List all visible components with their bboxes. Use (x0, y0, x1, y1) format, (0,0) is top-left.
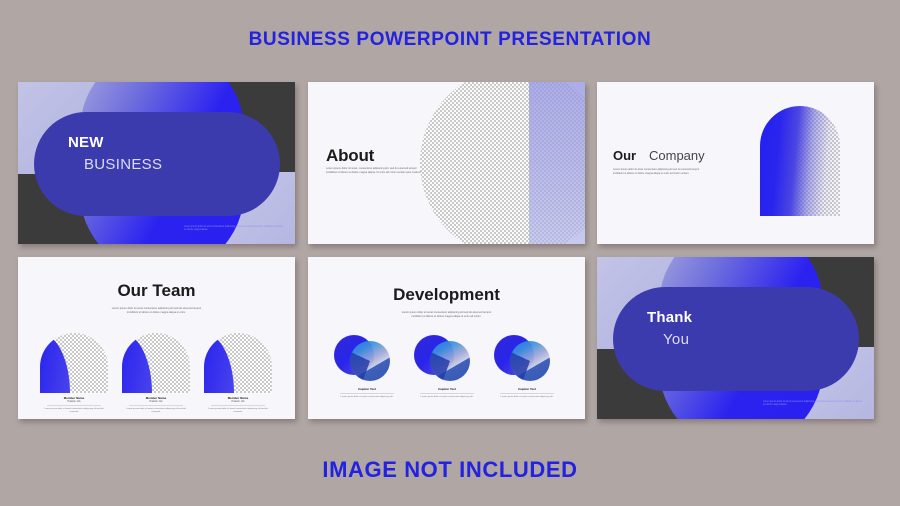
development-item[interactable]: Caption Text Lorem ipsum dolor sit amet … (332, 335, 402, 399)
team-divider (47, 405, 101, 406)
thankyou-microcopy: Lorem ipsum dolor sit amet consectetur a… (763, 401, 863, 407)
slide-thumbnail-cover[interactable]: NEW BUSINESS Lorem ipsum dolor sit amet … (18, 82, 295, 244)
team-member-card[interactable]: Member Name Position Job Lorem ipsum dol… (40, 333, 108, 414)
team-member-body: Lorem ipsum dolor sit amet consectetur a… (204, 408, 272, 414)
company-heading-light: Company (649, 148, 705, 163)
development-title: Development (308, 285, 585, 305)
team-arch-blue-crescent (40, 333, 70, 393)
about-heading: About (326, 146, 374, 166)
cover-title-bold: NEW (68, 134, 104, 151)
slide-thumbnail-development[interactable]: Development Lorem ipsum dolor sit amet c… (308, 257, 585, 419)
circle-wedge-icon (350, 341, 390, 381)
cover-title-light: BUSINESS (84, 156, 162, 173)
team-title: Our Team (18, 281, 295, 301)
team-divider (129, 405, 183, 406)
development-subtitle: Lorem ipsum dolor sit amet consectetur a… (397, 311, 497, 319)
circle-wedge-icon (430, 341, 470, 381)
about-gradient-strip (529, 82, 585, 244)
team-member-body: Lorem ipsum dolor sit amet consectetur a… (40, 408, 108, 414)
development-body: Lorem ipsum dolor sit amet consectetur a… (412, 396, 482, 399)
company-arch-gradient-overlay (760, 106, 840, 216)
slide-thumbnail-about[interactable]: About Lorem ipsum dolor sit amet, consec… (308, 82, 585, 244)
development-divider (500, 393, 554, 394)
development-divider (340, 393, 394, 394)
development-circles-graphic (332, 335, 402, 383)
team-arch-blue-crescent (122, 333, 152, 393)
thankyou-title-bold: Thank (647, 309, 692, 326)
team-member-role: Position Job (204, 400, 272, 403)
slide-thumbnail-thank-you[interactable]: Thank You Lorem ipsum dolor sit amet con… (597, 257, 874, 419)
development-item[interactable]: Caption Text Lorem ipsum dolor sit amet … (492, 335, 562, 399)
development-caption: Caption Text (332, 387, 402, 391)
circle-wedge-icon (510, 341, 550, 381)
development-caption: Caption Text (492, 387, 562, 391)
about-body-text: Lorem ipsum dolor sit amet, consectetur … (326, 167, 422, 175)
team-member-role: Position Job (122, 400, 190, 403)
team-arch-image-placeholder (122, 333, 190, 393)
top-banner-title: BUSINESS POWERPOINT PRESENTATION (0, 29, 900, 51)
team-member-card[interactable]: Member Name Position Job Lorem ipsum dol… (122, 333, 190, 414)
development-body: Lorem ipsum dolor sit amet consectetur a… (492, 396, 562, 399)
development-body: Lorem ipsum dolor sit amet consectetur a… (332, 396, 402, 399)
development-caption: Caption Text (412, 387, 482, 391)
presentation-mockup-page: BUSINESS POWERPOINT PRESENTATION NEW BUS… (0, 0, 900, 506)
team-arch-image-placeholder (40, 333, 108, 393)
team-arch-image-placeholder (204, 333, 272, 393)
team-member-role: Position Job (40, 400, 108, 403)
company-body-text: Lorem ipsum dolor sit amet consectetur a… (613, 168, 705, 175)
bottom-banner-notice: IMAGE NOT INCLUDED (0, 457, 900, 483)
company-heading-bold: Our (613, 148, 636, 163)
development-item[interactable]: Caption Text Lorem ipsum dolor sit amet … (412, 335, 482, 399)
development-divider (420, 393, 474, 394)
thankyou-pill-shape (613, 287, 859, 391)
development-circles-graphic (412, 335, 482, 383)
team-subtitle: Lorem ipsum dolor sit amet consectetur a… (109, 307, 205, 315)
slide-thumbnail-our-company[interactable]: Our Company Lorem ipsum dolor sit amet c… (597, 82, 874, 244)
team-member-body: Lorem ipsum dolor sit amet consectetur a… (122, 408, 190, 414)
cover-microcopy: Lorem ipsum dolor sit amet consectetur a… (184, 226, 284, 232)
thankyou-title-light: You (663, 331, 689, 348)
slide-thumbnail-our-team[interactable]: Our Team Lorem ipsum dolor sit amet cons… (18, 257, 295, 419)
team-member-card[interactable]: Member Name Position Job Lorem ipsum dol… (204, 333, 272, 414)
development-circles-graphic (492, 335, 562, 383)
team-divider (211, 405, 265, 406)
team-arch-blue-crescent (204, 333, 234, 393)
